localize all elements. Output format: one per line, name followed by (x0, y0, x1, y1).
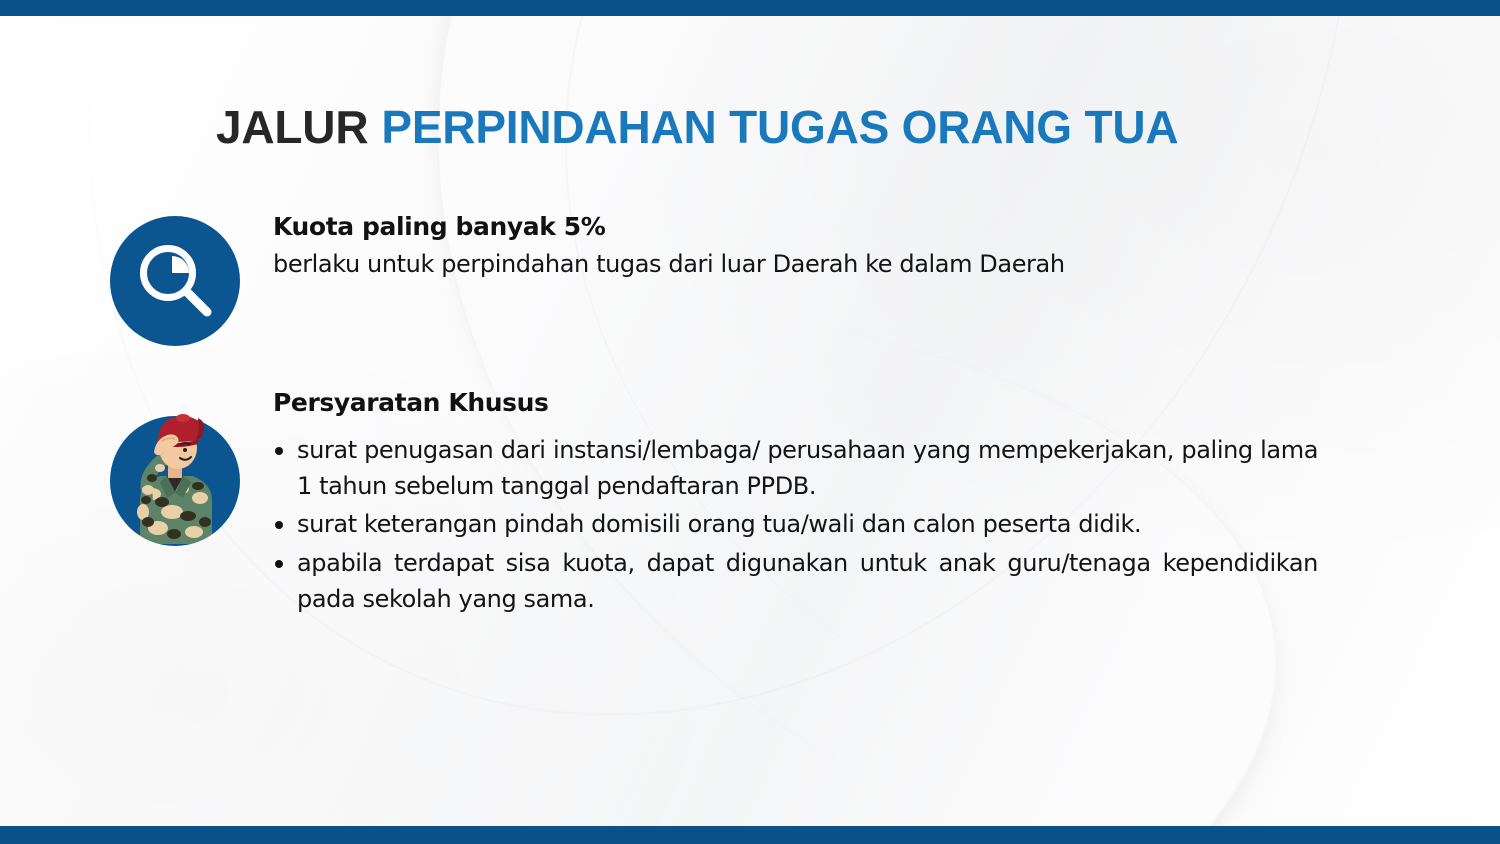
title-word-dark: JALUR (216, 101, 368, 153)
magnifier-badge (110, 216, 240, 346)
top-accent-bar (0, 0, 1500, 16)
soldier-salute-icon (110, 394, 240, 546)
page-title: JALURPERPINDAHAN TUGAS ORANG TUA (216, 103, 1178, 151)
bottom-accent-bar (0, 826, 1500, 844)
quota-subtext: berlaku untuk perpindahan tugas dari lua… (273, 249, 1320, 280)
magnifier-icon (110, 216, 240, 346)
list-item: apabila terdapat sisa kuota, dapat digun… (273, 545, 1318, 618)
quota-heading: Kuota paling banyak 5% (273, 212, 1320, 242)
title-word-blue: PERPINDAHAN TUGAS ORANG TUA (381, 101, 1178, 153)
requirements-list: surat penugasan dari instansi/lembaga/ p… (273, 432, 1318, 618)
requirements-text-column: Persyaratan Khusus surat penugasan dari … (273, 388, 1320, 618)
requirements-heading: Persyaratan Khusus (273, 388, 1320, 418)
soldier-badge (110, 416, 240, 546)
content-block-quota: Kuota paling banyak 5% berlaku untuk per… (110, 212, 1320, 280)
list-item: surat penugasan dari instansi/lembaga/ p… (273, 432, 1318, 505)
quota-text-column: Kuota paling banyak 5% berlaku untuk per… (273, 212, 1320, 280)
list-item: surat keterangan pindah domisili orang t… (273, 506, 1318, 542)
content-block-requirements: Persyaratan Khusus surat penugasan dari … (110, 388, 1320, 620)
slide-canvas: JALURPERPINDAHAN TUGAS ORANG TUA Kuota p… (0, 0, 1500, 844)
